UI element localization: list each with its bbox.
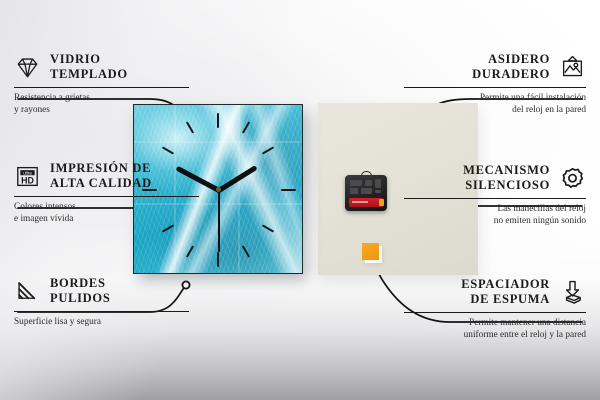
feature-desc-line2: del reloj en la pared — [404, 104, 586, 116]
feature-desc-line2: e imagen vívida — [14, 213, 199, 225]
feature-desc-line1: Superficie lisa y segura — [14, 316, 189, 328]
svg-text:HD: HD — [21, 175, 34, 185]
feature-mecanismo-silencioso: MECANISMO SILENCIOSO Las manecillas del … — [404, 163, 586, 227]
feature-divider — [14, 311, 189, 312]
feature-title-line1: VIDRIO — [50, 52, 128, 67]
feature-asidero-duradero: ASIDERO DURADERO Permite una fácil insta… — [404, 52, 586, 116]
feature-desc-line1: Colores intensos — [14, 201, 199, 213]
clock-center-pin — [216, 187, 221, 192]
feature-title-line2: ALTA CALIDAD — [50, 176, 152, 191]
press-down-arrow-icon — [559, 279, 586, 306]
mechanism-body — [345, 175, 387, 211]
feature-title-line1: MECANISMO — [463, 163, 550, 178]
second-hand — [218, 190, 220, 252]
gear-icon — [559, 165, 586, 192]
feature-divider — [14, 87, 189, 88]
hour-tick — [217, 113, 219, 128]
feature-title-line2: DE ESPUMA — [461, 292, 550, 307]
feature-impresion-alta-calidad: ultra HD IMPRESIÓN DE ALTA CALIDAD Color… — [14, 161, 199, 225]
feature-divider — [404, 312, 586, 313]
ultra-hd-icon: ultra HD — [14, 163, 41, 190]
clock-mechanism — [345, 171, 387, 211]
feature-desc-line1: Las manecillas del reloj — [404, 203, 586, 215]
feature-divider — [404, 198, 586, 199]
feature-espaciador-de-espuma: ESPACIADOR DE ESPUMA Permite mantener un… — [404, 277, 586, 341]
feature-divider — [404, 87, 586, 88]
feature-desc-line1: Resistencia a grietas — [14, 92, 189, 104]
feature-title-line2: DURADERO — [472, 67, 550, 82]
mechanism-battery — [349, 198, 383, 207]
diamond-icon — [14, 54, 41, 81]
feature-title-line2: PULIDOS — [50, 291, 110, 306]
hour-tick — [217, 252, 219, 267]
feature-desc-line1: Permite una fácil instalación — [404, 92, 586, 104]
feature-divider — [14, 196, 199, 197]
feature-title-line1: ASIDERO — [472, 52, 550, 67]
foam-spacer — [362, 243, 379, 260]
hour-tick — [281, 189, 296, 191]
feature-desc-line1: Permite mantener una distancia — [404, 317, 586, 329]
feature-bordes-pulidos: BORDES PULIDOS Superficie lisa y segura — [14, 276, 189, 328]
polished-edges-icon — [14, 278, 41, 305]
picture-frame-icon — [559, 54, 586, 81]
feature-desc-line2: y rayones — [14, 104, 189, 116]
feature-title-line2: SILENCIOSO — [463, 178, 550, 193]
feature-title-line1: IMPRESIÓN DE — [50, 161, 152, 176]
feature-title-line1: BORDES — [50, 276, 110, 291]
feature-vidrio-templado: VIDRIO TEMPLADO Resistencia a grietas y … — [14, 52, 189, 116]
infographic-canvas: VIDRIO TEMPLADO Resistencia a grietas y … — [0, 0, 600, 400]
feature-desc-line2: no emiten ningún sonido — [404, 215, 586, 227]
feature-title-line2: TEMPLADO — [50, 67, 128, 82]
feature-desc-line2: uniforme entre el reloj y la pared — [404, 329, 586, 341]
feature-title-line1: ESPACIADOR — [461, 277, 550, 292]
